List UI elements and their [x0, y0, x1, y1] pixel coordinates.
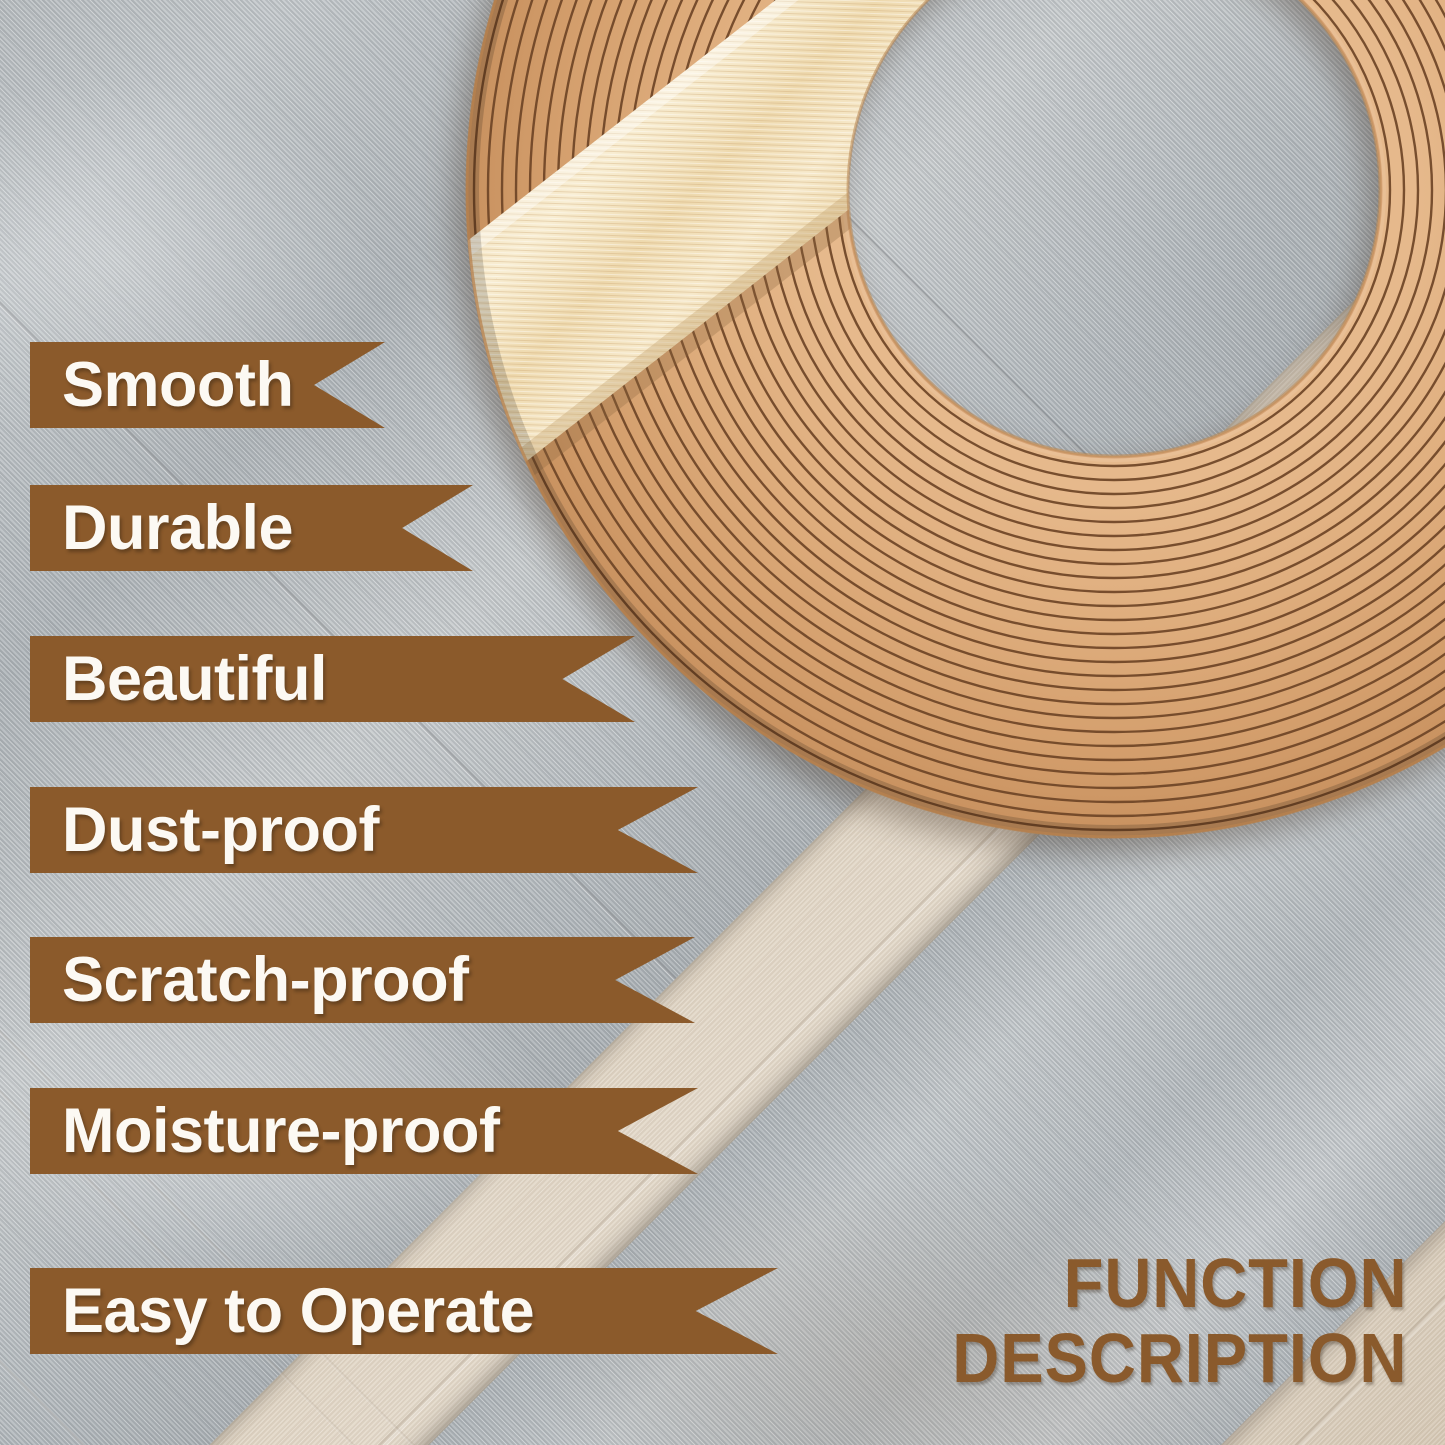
- feature-label: Scratch-proof: [62, 949, 469, 1012]
- function-description-heading: FUNCTION DESCRIPTION: [952, 1246, 1407, 1397]
- feature-banner-dust-proof[interactable]: Dust-proof: [30, 787, 698, 873]
- heading-line-2: DESCRIPTION: [952, 1321, 1407, 1397]
- feature-label: Beautiful: [62, 648, 327, 711]
- edge-banding-roll: [404, 0, 1445, 900]
- feature-banner-moisture-proof[interactable]: Moisture-proof: [30, 1088, 698, 1174]
- feature-banner-scratch-proof[interactable]: Scratch-proof: [30, 937, 695, 1023]
- feature-label: Moisture-proof: [62, 1100, 499, 1163]
- heading-line-1: FUNCTION: [952, 1246, 1407, 1322]
- product-infographic: Smooth Durable Beautiful Dust-proof Scra…: [0, 0, 1445, 1445]
- feature-label: Easy to Operate: [62, 1280, 534, 1343]
- feature-label: Smooth: [62, 354, 293, 417]
- feature-label: Durable: [62, 497, 293, 560]
- feature-banner-easy-to-operate[interactable]: Easy to Operate: [30, 1268, 778, 1354]
- feature-label: Dust-proof: [62, 799, 379, 862]
- feature-banner-beautiful[interactable]: Beautiful: [30, 636, 635, 722]
